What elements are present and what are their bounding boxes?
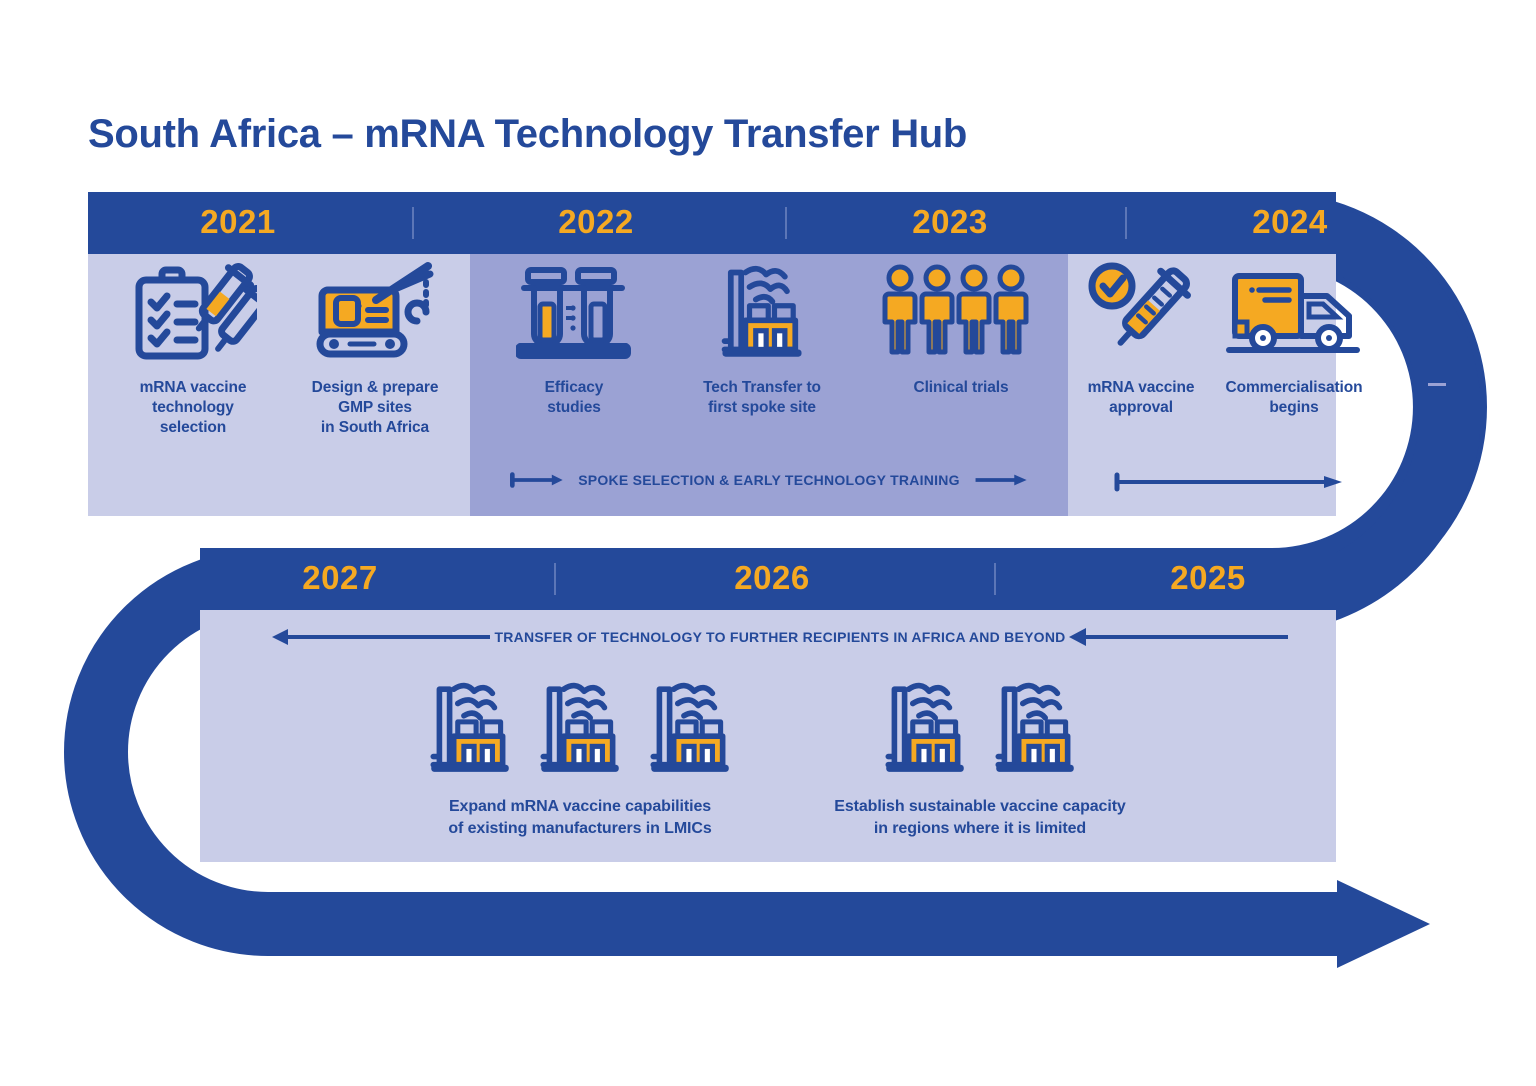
milestone-mrna-vaccine-approval[interactable]: mRNA vaccineapproval (1076, 254, 1206, 418)
milestone-tech-transfer-first-spoke-site[interactable]: Tech Transfer tofirst spoke site (676, 254, 848, 418)
milestone-label: mRNA vaccinetechnologyselection (98, 378, 288, 437)
arrow-left-icon (1068, 626, 1290, 648)
people-group-icon (866, 254, 1056, 364)
year-separator-tick (554, 563, 556, 595)
milestone-label: Efficacystudies (488, 378, 660, 418)
year-label-2026: 2026 (682, 548, 862, 610)
milestone-efficacy-studies[interactable]: Efficacystudies (488, 254, 660, 418)
year-label-2021: 2021 (148, 192, 328, 254)
test-tubes-icon (488, 254, 660, 364)
commercialisation-arrow (1114, 472, 1344, 492)
milestone-mrna-vaccine-technology-selection[interactable]: mRNA vaccinetechnologyselection (98, 254, 288, 437)
year-separator-tick (785, 207, 787, 239)
milestone-label: Commercialisationbegins (1204, 378, 1384, 418)
year-label-2027: 2027 (250, 548, 430, 610)
milestone-label: Clinical trials (866, 378, 1056, 398)
year-separator-tick (1125, 207, 1127, 239)
arrow-right-icon (974, 470, 1028, 490)
transfer-note-text: TRANSFER OF TECHNOLOGY TO FURTHER RECIPI… (494, 629, 1065, 645)
year-label-2023: 2023 (860, 192, 1040, 254)
factory-icon (984, 672, 1086, 784)
milestone-label: Establish sustainable vaccine capacityin… (800, 796, 1160, 839)
page-title: South Africa – mRNA Technology Transfer … (88, 112, 967, 157)
ribbon-dash-marker (1428, 383, 1446, 386)
crane-excavator-icon (280, 254, 470, 364)
approved-syringe-icon (1076, 254, 1206, 364)
factory-icon (676, 254, 848, 364)
milestone-label: Design & prepareGMP sitesin South Africa (280, 378, 470, 437)
milestone-design-prepare-gmp-sites[interactable]: Design & prepareGMP sitesin South Africa (280, 254, 470, 437)
spoke-selection-note-text: SPOKE SELECTION & EARLY TECHNOLOGY TRAIN… (578, 472, 960, 488)
factory-icon (639, 672, 741, 784)
factory-icon (529, 672, 631, 784)
year-label-2024: 2024 (1200, 192, 1380, 254)
year-label-2022: 2022 (506, 192, 686, 254)
factory-group-icon (400, 672, 760, 784)
timeline-bottom-header: 2027 2026 2025 (200, 548, 1336, 610)
delivery-truck-icon (1204, 254, 1384, 364)
milestone-commercialisation-begins[interactable]: Commercialisationbegins (1204, 254, 1384, 418)
milestone-label: Expand mRNA vaccine capabilitiesof exist… (400, 796, 760, 839)
arrow-right-bar-icon (1114, 472, 1344, 492)
factory-icon (419, 672, 521, 784)
timeline-top-header: 2021 2022 2023 2024 (88, 192, 1336, 254)
milestone-establish-sustainable-vaccine-capacity[interactable]: Establish sustainable vaccine capacityin… (800, 672, 1160, 839)
transfer-of-technology-note: TRANSFER OF TECHNOLOGY TO FURTHER RECIPI… (270, 624, 1290, 650)
milestone-label: Tech Transfer tofirst spoke site (676, 378, 848, 418)
year-separator-tick (994, 563, 996, 595)
milestone-clinical-trials[interactable]: Clinical trials (866, 254, 1056, 398)
year-separator-tick (412, 207, 414, 239)
spoke-selection-note: SPOKE SELECTION & EARLY TECHNOLOGY TRAIN… (510, 470, 1028, 490)
year-label-2025: 2025 (1118, 548, 1298, 610)
milestone-label: mRNA vaccineapproval (1076, 378, 1206, 418)
timeline-ribbon (0, 0, 1536, 1086)
factory-icon (874, 672, 976, 784)
milestone-expand-mrna-vaccine-capabilities[interactable]: Expand mRNA vaccine capabilitiesof exist… (400, 672, 760, 839)
factory-group-icon (800, 672, 1160, 784)
clipboard-syringes-icon (98, 254, 288, 364)
arrow-left-icon (270, 626, 492, 648)
arrow-right-bar-icon (510, 470, 564, 490)
timeline-top-body: mRNA vaccinetechnologyselection (88, 254, 1336, 516)
